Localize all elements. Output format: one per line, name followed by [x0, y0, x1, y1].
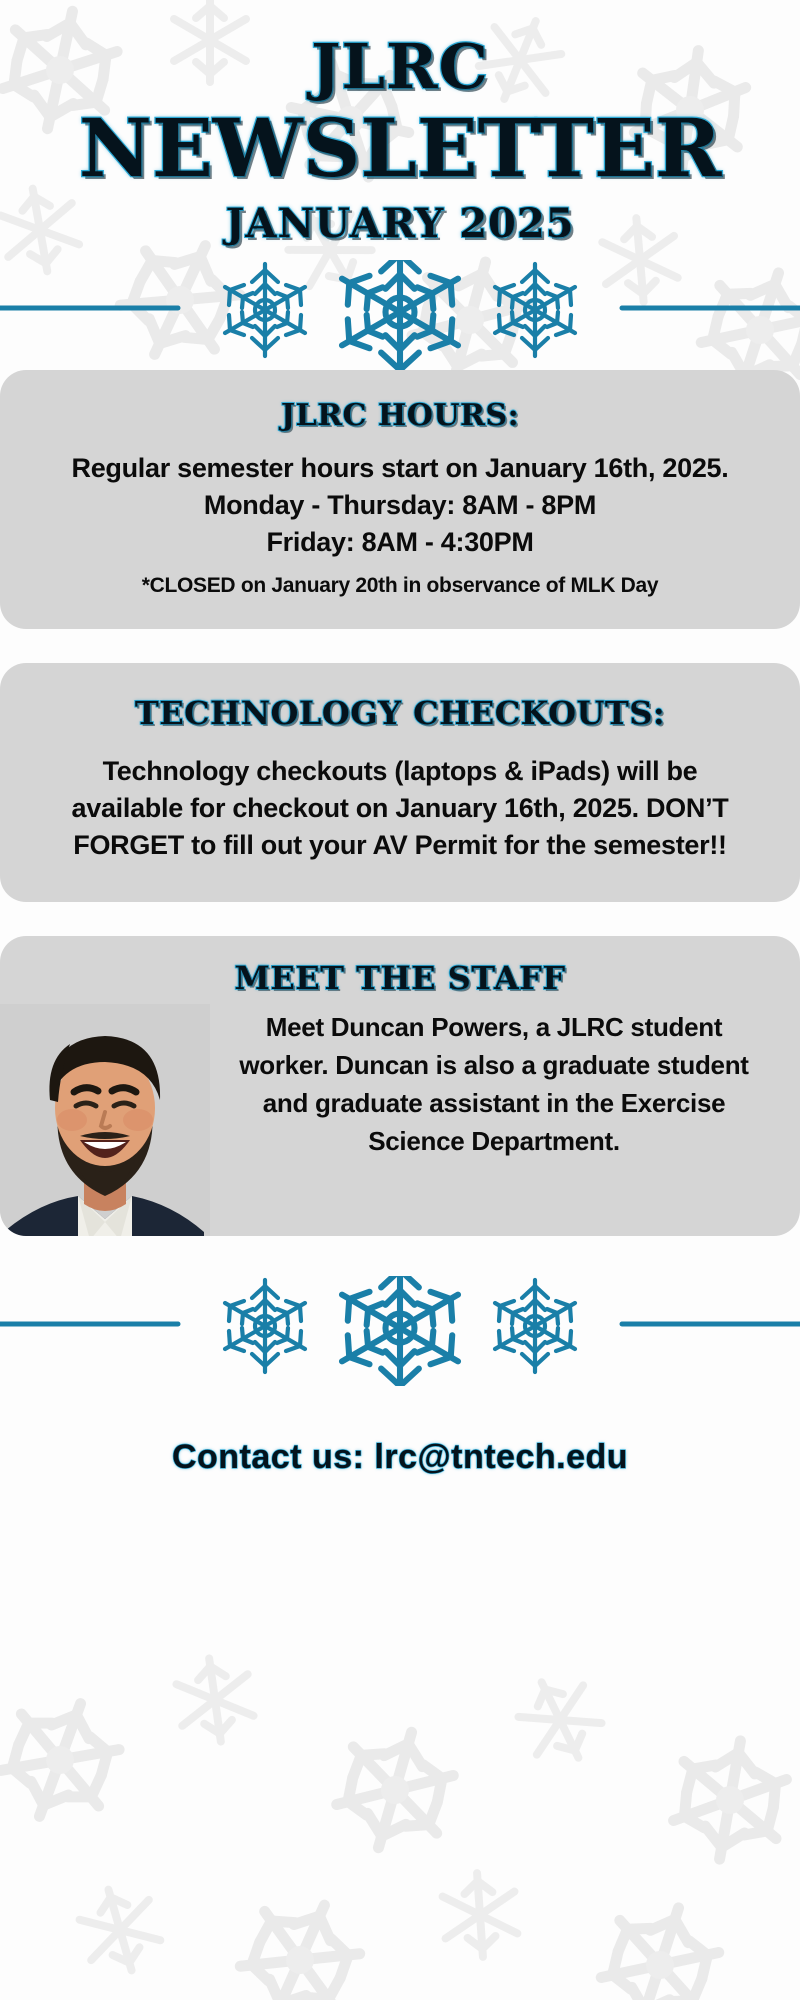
snowflake-icon-center	[342, 260, 458, 370]
contact-line[interactable]: Contact us: lrc@tntech.edu	[0, 1438, 800, 1477]
snowflake-icon-right	[495, 264, 575, 356]
snowflake-icon-left	[225, 264, 305, 356]
spacer-2	[0, 902, 800, 936]
divider-bottom	[0, 1276, 800, 1386]
technology-heading: TECHNOLOGY CHECKOUTS:	[18, 693, 782, 733]
hours-closed-note: *CLOSED on January 20th in observance of…	[18, 571, 782, 601]
title-jlrc: JLRC	[0, 30, 800, 104]
card-staff: MEET THE STAFF	[0, 936, 800, 1236]
hours-intro: Regular semester hours start on January …	[18, 450, 782, 487]
snowflake-icon-left-bottom	[225, 1280, 305, 1372]
title-newsletter: NEWSLETTER	[0, 104, 800, 192]
card-hours: JLRC HOURS: Regular semester hours start…	[0, 370, 800, 629]
newsletter-footer: Contact us: lrc@tntech.edu	[0, 1438, 800, 1477]
spacer-1	[0, 629, 800, 663]
technology-body: Technology checkouts (laptops & iPads) w…	[18, 753, 782, 864]
staff-heading: MEET THE STAFF	[18, 958, 782, 998]
divider-top	[0, 260, 800, 370]
card-technology: TECHNOLOGY CHECKOUTS: Technology checkou…	[0, 663, 800, 902]
hours-friday: Friday: 8AM - 4:30PM	[18, 524, 782, 561]
newsletter-header: JLRC NEWSLETTER JANUARY 2025	[0, 0, 800, 252]
snowflake-icon-right-bottom	[495, 1280, 575, 1372]
newsletter-page: JLRC NEWSLETTER JANUARY 2025	[0, 0, 800, 2000]
hours-heading: JLRC HOURS:	[18, 396, 782, 436]
hours-weekday: Monday - Thursday: 8AM - 8PM	[18, 487, 782, 524]
snowflake-icon-center-bottom	[342, 1276, 458, 1386]
staff-body: Meet Duncan Powers, a JLRC student worke…	[224, 1004, 782, 1160]
staff-portrait	[0, 1004, 210, 1236]
title-date: JANUARY 2025	[0, 196, 800, 252]
